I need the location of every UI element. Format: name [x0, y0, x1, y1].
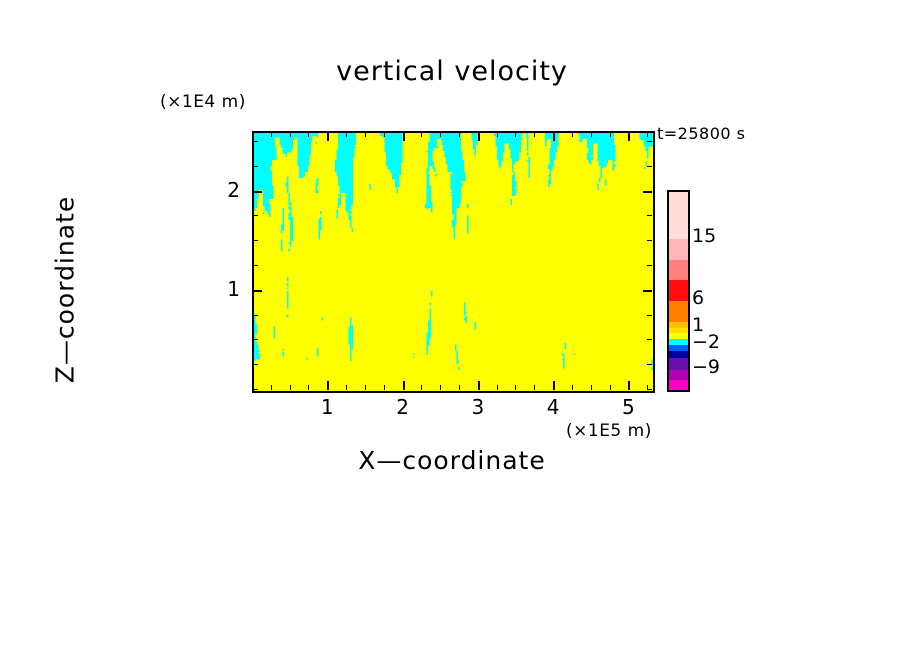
x-tick-bottom	[346, 385, 347, 390]
y-tick-left	[253, 364, 258, 365]
colorbar-tick-label: 6	[692, 287, 704, 309]
colorbar-tick-label: 15	[692, 225, 716, 247]
x-tick-bottom	[591, 385, 592, 390]
y-tick-right	[647, 141, 652, 142]
y-tick-left	[253, 265, 258, 266]
x-tick-bottom	[497, 385, 498, 390]
x-tick-top	[365, 132, 366, 137]
x-tick-bottom	[572, 385, 573, 390]
x-tick-top	[591, 132, 592, 137]
y-tick-right	[647, 315, 652, 316]
x-tick-top	[459, 132, 460, 137]
x-tick-top	[572, 132, 573, 137]
x-tick-bottom	[440, 385, 441, 390]
y-tick-label: 1	[200, 277, 240, 301]
y-axis-title: Z—coordinate	[51, 170, 80, 410]
y-tick-right	[647, 265, 652, 266]
x-tick-top	[308, 132, 309, 137]
y-axis-unit-label: (×1E4 m)	[160, 92, 246, 112]
colorbar-band	[669, 351, 688, 358]
x-tick-top	[403, 132, 405, 141]
x-tick-top	[271, 132, 272, 137]
contour-plot-panel[interactable]	[252, 131, 655, 393]
colorbar-band	[669, 301, 688, 322]
y-tick-right	[643, 290, 652, 292]
time-annotation: t=25800 s	[657, 124, 746, 143]
x-tick-label: 1	[307, 395, 347, 419]
x-tick-label: 4	[533, 395, 573, 419]
x-tick-bottom	[365, 385, 366, 390]
y-tick-left	[253, 389, 258, 390]
x-tick-top	[421, 132, 422, 137]
x-tick-top	[252, 132, 253, 137]
x-tick-top	[647, 132, 648, 137]
x-tick-bottom	[534, 385, 535, 390]
figure-canvas: vertical velocity (×1E4 m) t=25800 s Z—c…	[0, 0, 904, 654]
x-tick-top	[384, 132, 385, 137]
y-tick-left	[253, 240, 258, 241]
page-title: vertical velocity	[0, 56, 904, 87]
colorbar-tick-label: −2	[692, 331, 720, 353]
colorbar-tick-label: −9	[692, 356, 720, 378]
x-tick-top	[534, 132, 535, 137]
x-tick-top	[497, 132, 498, 137]
y-tick-right	[643, 191, 652, 193]
x-tick-bottom	[478, 381, 480, 390]
x-tick-top	[478, 132, 480, 141]
colorbar-band	[669, 260, 688, 280]
x-tick-top	[628, 132, 630, 141]
x-tick-bottom	[403, 381, 405, 390]
y-tick-left	[253, 191, 262, 193]
velocity-field-image	[254, 133, 653, 391]
x-tick-bottom	[459, 385, 460, 390]
y-tick-left	[253, 290, 262, 292]
x-tick-top	[515, 132, 516, 137]
x-tick-top	[610, 132, 611, 137]
y-tick-label: 2	[200, 178, 240, 202]
x-tick-top	[290, 132, 291, 137]
x-tick-bottom	[628, 381, 630, 390]
y-tick-right	[647, 389, 652, 390]
x-tick-top	[346, 132, 347, 137]
y-tick-left	[253, 315, 258, 316]
y-tick-left	[253, 215, 258, 216]
colorbar-band	[669, 280, 688, 301]
y-tick-right	[647, 339, 652, 340]
y-tick-right	[647, 240, 652, 241]
y-tick-left	[253, 166, 258, 167]
colorbar-band	[669, 380, 688, 390]
x-tick-bottom	[515, 385, 516, 390]
x-tick-bottom	[610, 385, 611, 390]
x-tick-bottom	[271, 385, 272, 390]
x-tick-bottom	[308, 385, 309, 390]
x-tick-bottom	[290, 385, 291, 390]
x-tick-label: 5	[608, 395, 648, 419]
y-tick-left	[253, 141, 258, 142]
x-tick-label: 2	[383, 395, 423, 419]
y-tick-right	[647, 364, 652, 365]
colorbar-band	[669, 239, 688, 260]
colorbar-band	[669, 358, 688, 370]
colorbar-band	[669, 192, 688, 239]
colorbar[interactable]	[667, 190, 690, 392]
x-axis-unit-label: (×1E5 m)	[566, 421, 652, 441]
y-tick-right	[647, 166, 652, 167]
x-tick-top	[440, 132, 441, 137]
y-tick-left	[253, 339, 258, 340]
x-axis-title: X—coordinate	[0, 446, 904, 475]
x-tick-bottom	[553, 381, 555, 390]
x-tick-bottom	[327, 381, 329, 390]
colorbar-band	[669, 370, 688, 380]
x-tick-top	[553, 132, 555, 141]
x-tick-top	[327, 132, 329, 141]
x-tick-bottom	[421, 385, 422, 390]
x-tick-label: 3	[458, 395, 498, 419]
x-tick-bottom	[384, 385, 385, 390]
y-tick-right	[647, 215, 652, 216]
